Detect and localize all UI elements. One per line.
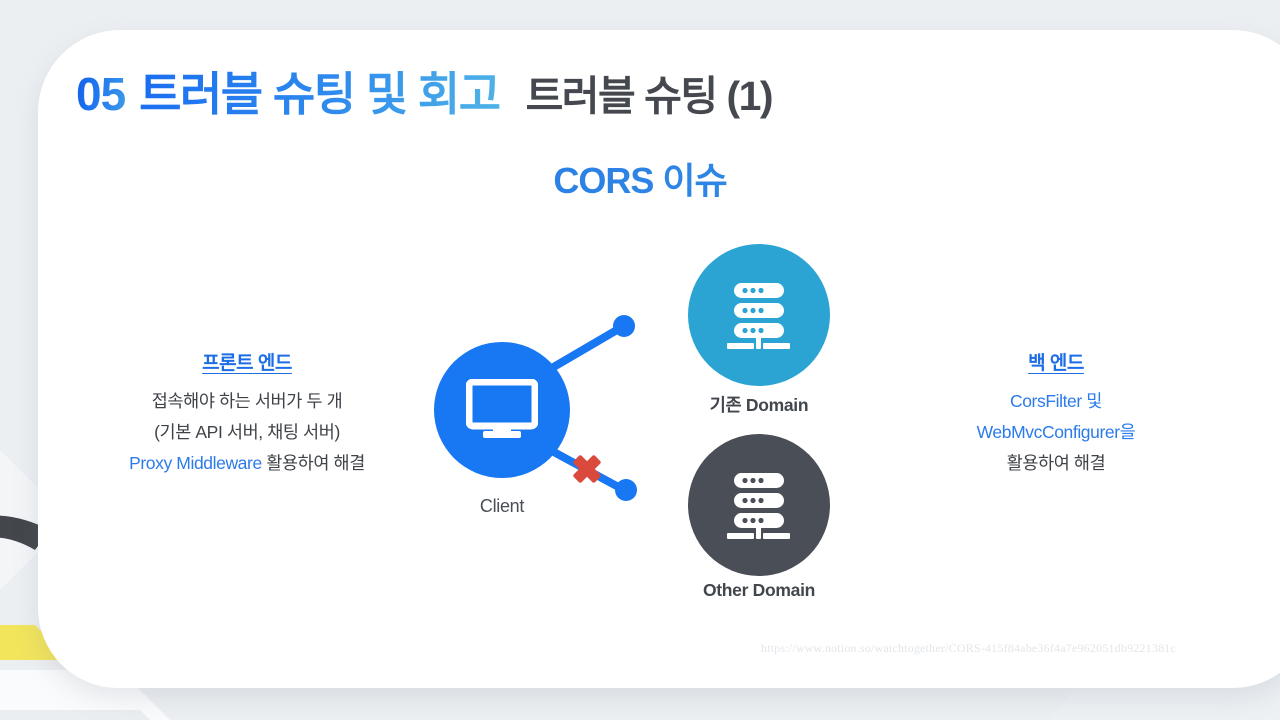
other-domain-label: Other Domain <box>650 580 868 601</box>
client-label: Client <box>434 496 570 517</box>
existing-domain-node <box>688 244 830 386</box>
server-icon <box>723 279 795 351</box>
client-node <box>434 342 570 478</box>
server-icon <box>723 469 795 541</box>
slide-canvas: 05 트러블 슈팅 및 회고 트러블 슈팅 (1) CORS 이슈 프론트 엔드… <box>0 0 1280 720</box>
footer-source-url[interactable]: https://www.notion.so/watchtogether/CORS… <box>761 641 1176 656</box>
diagram-connectors <box>0 0 1280 720</box>
monitor-icon <box>466 379 538 441</box>
other-domain-node <box>688 434 830 576</box>
cors-diagram: Client 기존 Domain <box>0 0 1280 720</box>
existing-domain-label: 기존 Domain <box>650 392 868 417</box>
blocked-x-icon <box>566 448 608 490</box>
